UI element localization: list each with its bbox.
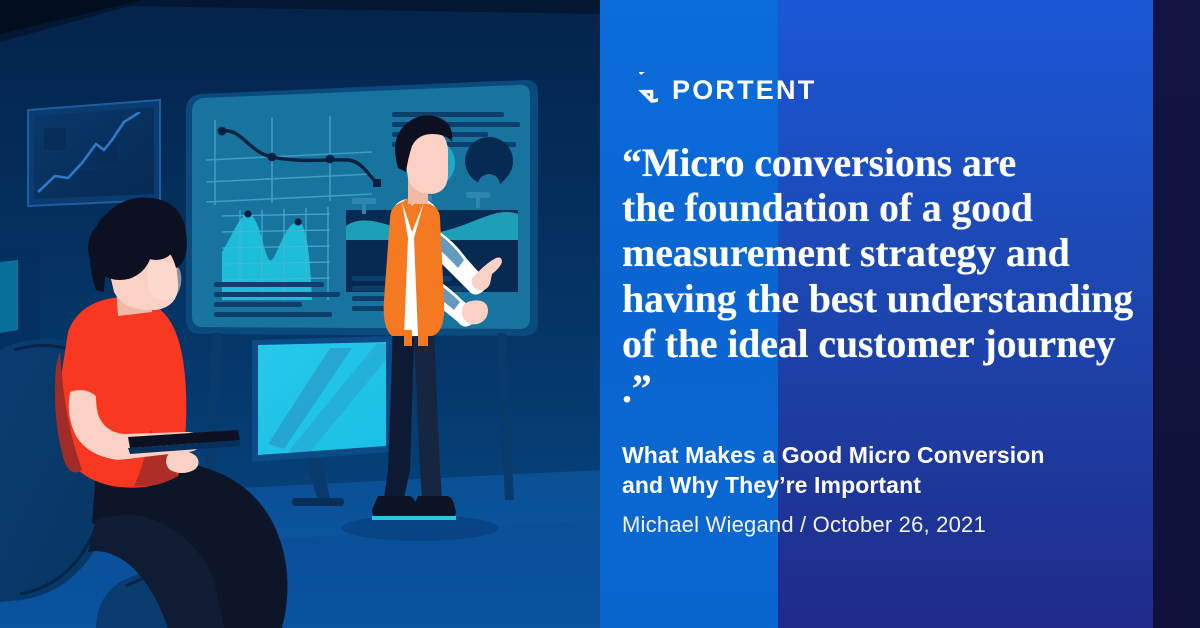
man-shoe-right xyxy=(412,496,456,518)
background-band-edge xyxy=(1153,0,1200,628)
portent-ring-icon xyxy=(622,72,658,108)
article-title: What Makes a Good Micro Conversion and W… xyxy=(622,441,1142,500)
wall-light-strip xyxy=(0,260,18,333)
article-byline: Michael Wiegand / October 26, 2021 xyxy=(622,512,1142,538)
man-vest-right xyxy=(414,202,444,336)
brand-wordmark: PORTENT xyxy=(672,77,816,104)
man-shoe-left xyxy=(372,496,418,518)
analytics-team-illustration xyxy=(0,0,600,628)
social-share-card: PORTENT “Micro conversions are the found… xyxy=(0,0,1200,628)
wall-framed-line-chart xyxy=(28,100,160,206)
brand-logo: PORTENT xyxy=(622,70,1142,110)
pull-quote: “Micro conversions are the foundation of… xyxy=(622,140,1142,411)
card-content: PORTENT “Micro conversions are the found… xyxy=(622,70,1142,538)
